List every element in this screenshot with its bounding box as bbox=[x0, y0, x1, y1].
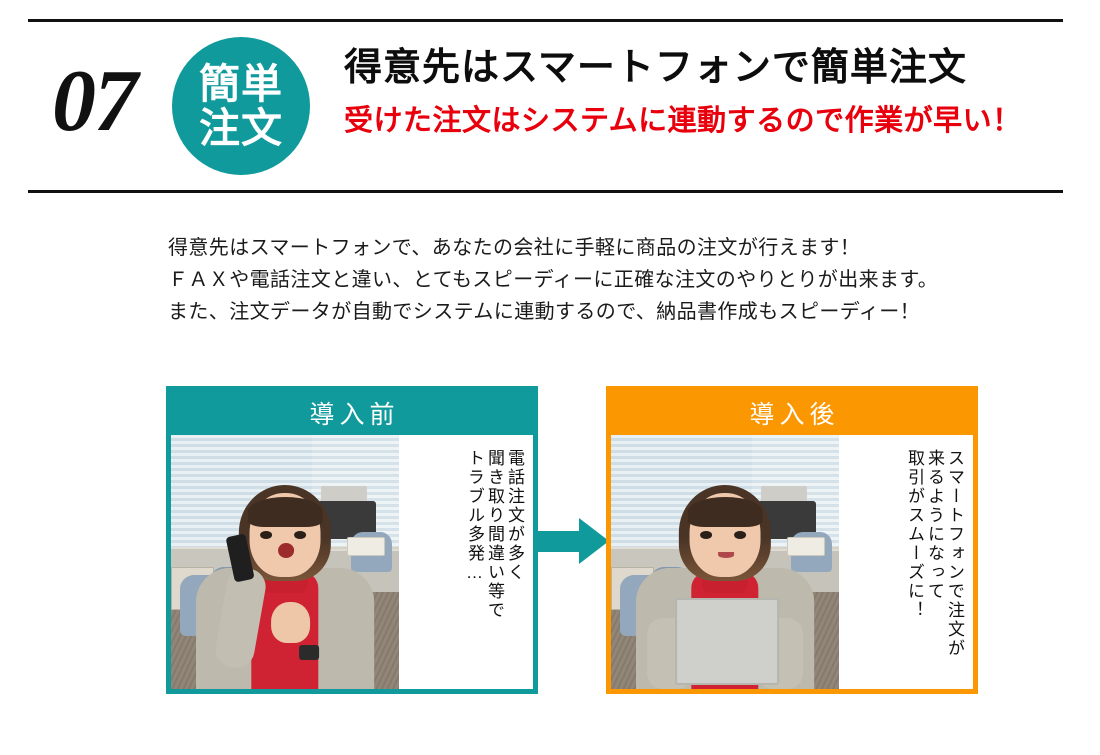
heading-group: 得意先はスマートフォンで簡単注文 受けた注文はシステムに連動するので作業が早い！ bbox=[344, 46, 1044, 138]
divider-bottom bbox=[28, 190, 1063, 193]
body-line-2: ＦＡＸや電話注文と違い、とてもスピーディーに正確な注文のやりとりが出来ます。 bbox=[168, 264, 1048, 296]
section-header: 07 簡単 注文 得意先はスマートフォンで簡単注文 受けた注文はシステムに連動す… bbox=[0, 30, 1100, 180]
panel-after-header: 導入後 bbox=[611, 391, 973, 435]
body-line-3: また、注文データが自動でシステムに連動するので、納品書作成もスピーディー！ bbox=[168, 296, 1048, 328]
badge-label-line2: 注文 bbox=[199, 106, 283, 150]
caption-after-col-2: 来るようになって bbox=[926, 449, 943, 665]
arrow-right-icon bbox=[537, 518, 609, 564]
caption-after-col-3: 取引がスムーズに！ bbox=[906, 449, 923, 665]
photo-hand-on-chest bbox=[271, 602, 310, 644]
photo-person-after bbox=[636, 481, 814, 689]
photo-laptop bbox=[675, 598, 779, 685]
panel-after: 導入後 bbox=[606, 386, 978, 694]
photo-bangs bbox=[248, 497, 323, 526]
photo-before bbox=[171, 435, 399, 689]
photo-bangs bbox=[688, 497, 763, 526]
page-title: 得意先はスマートフォンで簡単注文 bbox=[344, 46, 1044, 92]
divider-top bbox=[28, 19, 1063, 22]
badge-circle: 簡単 注文 bbox=[172, 37, 310, 175]
photo-person-before bbox=[196, 481, 374, 689]
caption-before-col-3: トラブル多発… bbox=[466, 449, 483, 665]
caption-after: スマートフォンで注文が 来るようになって 取引がスムーズに！ bbox=[839, 435, 973, 689]
body-copy: 得意先はスマートフォンで、あなたの会社に手軽に商品の注文が行えます！ ＦＡＸや電… bbox=[168, 232, 1048, 328]
panel-before-title: 導入前 bbox=[304, 395, 399, 431]
caption-before-col-2: 聞き取り間違い等で bbox=[486, 449, 503, 665]
panel-before-header: 導入前 bbox=[171, 391, 533, 435]
photo-after bbox=[611, 435, 839, 689]
caption-after-col-1: スマートフォンで注文が bbox=[946, 449, 963, 665]
arrow-head bbox=[579, 518, 609, 564]
comparison-section: 導入前 bbox=[0, 386, 1100, 696]
photo-mouth-smile bbox=[718, 552, 734, 558]
page-subtitle: 受けた注文はシステムに連動するので作業が早い！ bbox=[344, 104, 1044, 139]
panel-before: 導入前 bbox=[166, 386, 538, 694]
body-line-1: 得意先はスマートフォンで、あなたの会社に手軽に商品の注文が行えます！ bbox=[168, 232, 1048, 264]
caption-before-col-1: 電話注文が多く bbox=[506, 449, 523, 665]
panel-before-body: 電話注文が多く 聞き取り間違い等で トラブル多発… bbox=[171, 435, 533, 689]
panel-after-body: スマートフォンで注文が 来るようになって 取引がスムーズに！ bbox=[611, 435, 973, 689]
photo-mouth-open bbox=[278, 543, 294, 558]
panel-after-title: 導入後 bbox=[744, 395, 839, 431]
caption-before: 電話注文が多く 聞き取り間違い等で トラブル多発… bbox=[399, 435, 533, 689]
step-number: 07 bbox=[52, 58, 136, 146]
photo-wristwatch bbox=[299, 645, 319, 660]
badge-label-line1: 簡単 bbox=[199, 62, 283, 106]
arrow-shaft bbox=[537, 531, 583, 552]
